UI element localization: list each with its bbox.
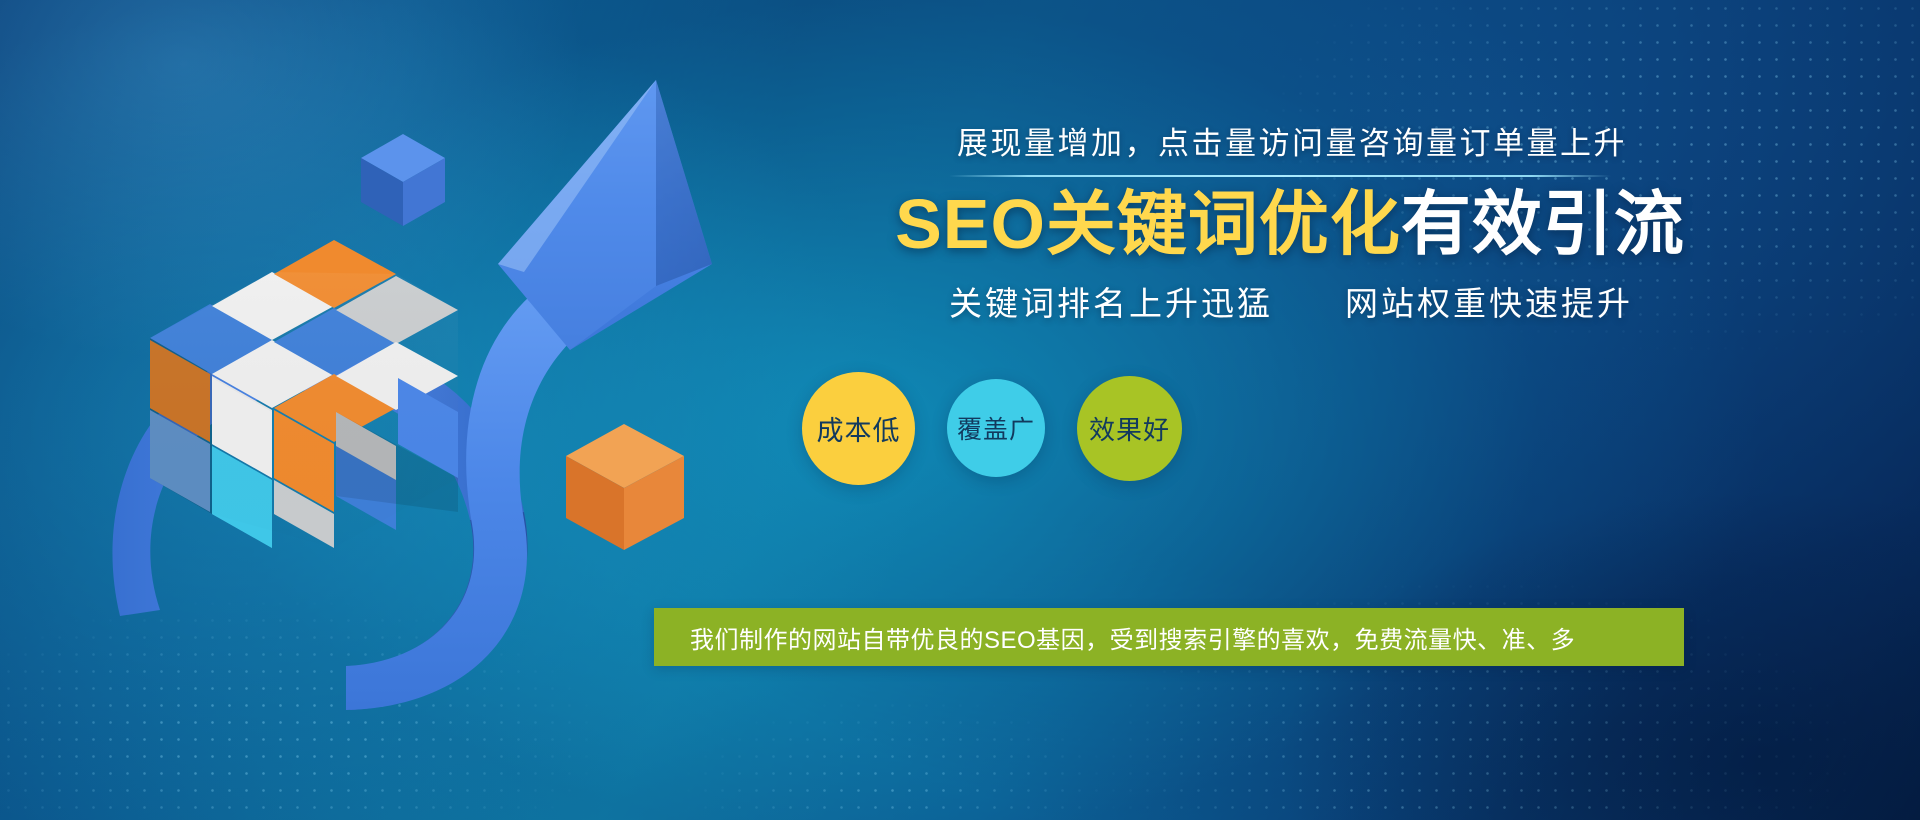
badge-good-results[interactable]: 效果好 bbox=[1077, 376, 1182, 481]
badge-wide-coverage[interactable]: 覆盖广 bbox=[947, 379, 1045, 477]
page-title: SEO关键词优化有效引流 bbox=[690, 185, 1870, 263]
footer-tagline-text: 我们制作的网站自带优良的SEO基因，受到搜索引擎的喜欢，免费流量快、准、多 bbox=[690, 620, 1575, 655]
banner-content: 展现量增加，点击量访问量咨询量订单量上升 SEO关键词优化有效引流 关键词排名上… bbox=[690, 118, 1870, 718]
headline-rest: 有效引流 bbox=[1401, 185, 1685, 263]
rubiks-cube-icon bbox=[120, 230, 460, 550]
floating-blue-cube-icon bbox=[355, 130, 450, 230]
benefit-badges: 成本低 覆盖广 效果好 bbox=[802, 368, 1402, 488]
badge-low-cost-label: 成本低 bbox=[817, 409, 901, 448]
footer-tagline-bar: 我们制作的网站自带优良的SEO基因，受到搜索引擎的喜欢，免费流量快、准、多 bbox=[654, 608, 1684, 666]
badge-wide-coverage-label: 覆盖广 bbox=[957, 410, 1035, 446]
divider-line bbox=[949, 175, 1611, 177]
floating-orange-cube-icon bbox=[560, 420, 690, 555]
kicker-text: 展现量增加，点击量访问量咨询量订单量上升 bbox=[690, 118, 1870, 163]
headline-highlight: SEO关键词优化 bbox=[895, 185, 1401, 263]
seo-promo-banner: 展现量增加，点击量访问量咨询量订单量上升 SEO关键词优化有效引流 关键词排名上… bbox=[0, 0, 1920, 820]
badge-low-cost[interactable]: 成本低 bbox=[802, 372, 915, 485]
subtitle-text: 关键词排名上升迅猛 网站权重快速提升 bbox=[690, 277, 1870, 325]
badge-good-results-label: 效果好 bbox=[1089, 410, 1170, 447]
